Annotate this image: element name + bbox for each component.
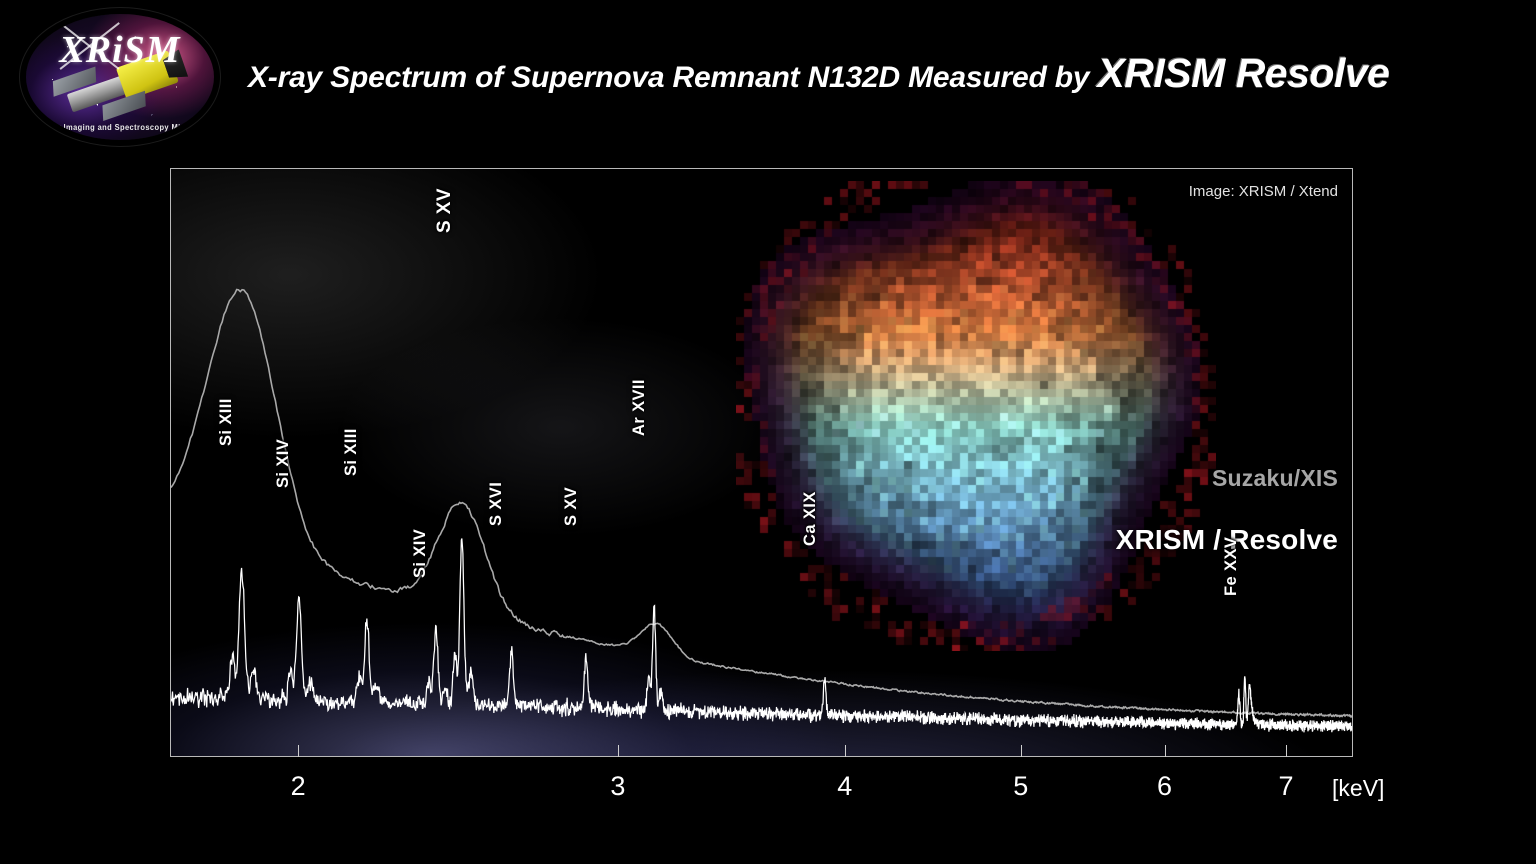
- emission-line-label: Fe XXV: [1222, 537, 1241, 596]
- suzaku-curve: [171, 289, 1352, 716]
- x-axis-tick: [1021, 745, 1022, 757]
- image-credit: Image: XRISM / Xtend: [1189, 183, 1338, 200]
- x-axis-tick-label: 6: [1157, 771, 1172, 802]
- logo-oval: XRiSM X-Ray Imaging and Spectroscopy Mis…: [26, 14, 214, 140]
- title-main: X-ray Spectrum of Supernova Remnant N132…: [248, 61, 1097, 94]
- page-title: X-ray Spectrum of Supernova Remnant N132…: [248, 50, 1389, 97]
- x-axis-tick: [298, 745, 299, 757]
- emission-line-label: S XVI: [487, 482, 506, 526]
- x-axis-tick: [1165, 745, 1166, 757]
- xrism-logo: XRiSM X-Ray Imaging and Spectroscopy Mis…: [26, 14, 214, 140]
- x-axis-tick: [618, 745, 619, 757]
- x-axis-tick: [1286, 745, 1287, 757]
- spectrum-plot: Image: XRISM / Xtend Suzaku/XIS XRISM / …: [170, 168, 1353, 757]
- x-axis-tick-label: 4: [837, 771, 852, 802]
- x-axis-tick-label: 5: [1013, 771, 1028, 802]
- emission-line-label: Si XIII: [342, 428, 361, 476]
- x-axis-tick-label: 2: [291, 771, 306, 802]
- emission-line-label: Si XIV: [274, 439, 293, 488]
- legend-suzaku: Suzaku/XIS: [1212, 465, 1338, 492]
- logo-wordmark: XRiSM: [26, 28, 214, 72]
- figure-root: XRiSM X-Ray Imaging and Spectroscopy Mis…: [0, 0, 1536, 864]
- x-axis-tick: [845, 745, 846, 757]
- x-axis-unit-label: [keV]: [1332, 775, 1384, 802]
- resolve-curve: [171, 538, 1352, 732]
- emission-line-label: S XV: [562, 487, 581, 526]
- x-axis-tick-label: 3: [610, 771, 625, 802]
- x-axis-tick-label: 7: [1279, 771, 1294, 802]
- emission-line-label: Si XIII: [217, 398, 236, 446]
- emission-line-label: Ar XVII: [630, 379, 649, 436]
- emission-line-label: Ca XIX: [801, 491, 820, 546]
- title-emphasis: XRISM Resolve: [1097, 50, 1389, 96]
- emission-line-label: Si XIV: [411, 529, 430, 578]
- x-axis: 234567 [keV]: [170, 757, 1353, 817]
- logo-rim-text: X-Ray Imaging and Spectroscopy Mission: [26, 123, 214, 132]
- emission-line-label: S XV: [434, 188, 456, 233]
